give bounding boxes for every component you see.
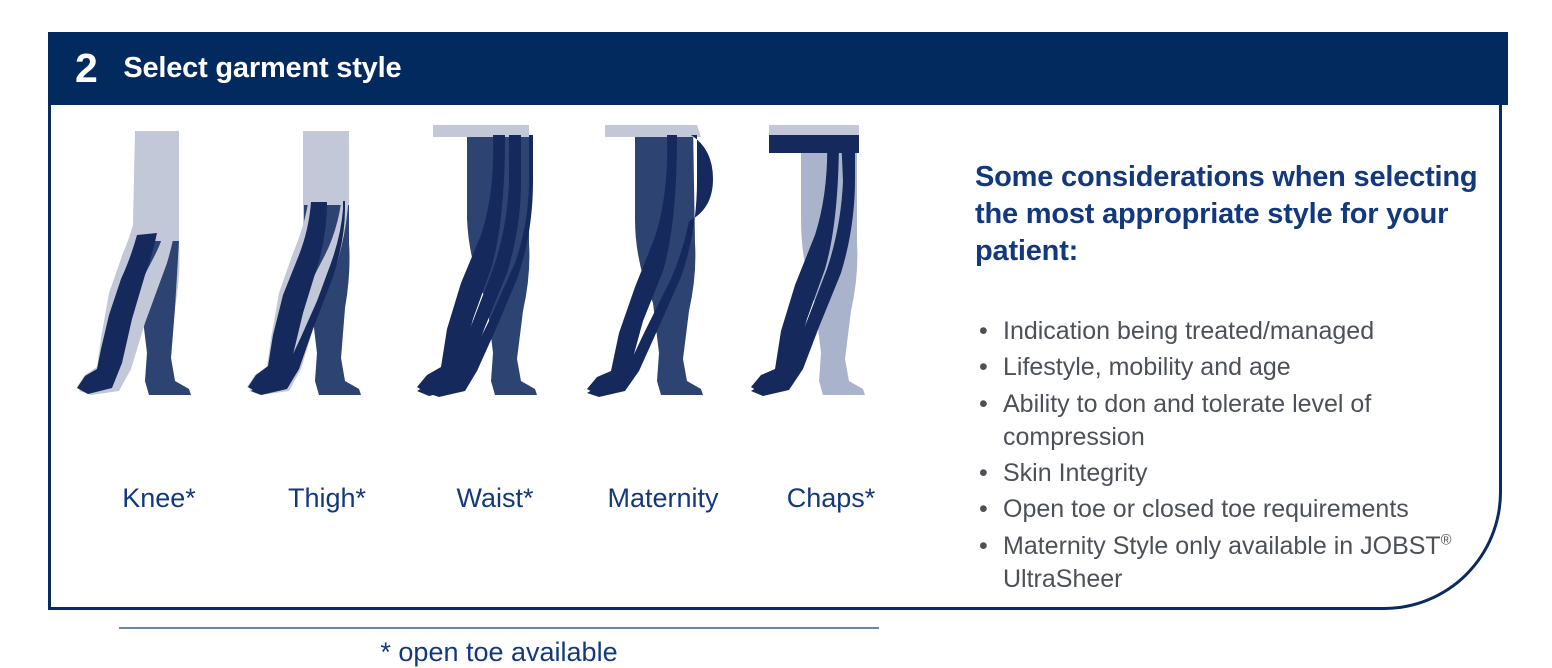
garment-label-maternity: Maternity (579, 483, 747, 514)
considerations-heading: Some considerations when selecting the m… (975, 159, 1487, 270)
step-number: 2 (75, 48, 97, 89)
list-item: •Skin Integrity (975, 457, 1505, 490)
garment-label-chaps: Chaps* (747, 483, 915, 514)
garment-figure-chaps[interactable] (747, 123, 915, 398)
list-item: •Lifestyle, mobility and age (975, 351, 1505, 384)
list-item: •Maternity Style only available in JOBST… (975, 530, 1505, 597)
list-item: •Indication being treated/managed (975, 315, 1505, 348)
garment-figure-maternity[interactable] (579, 123, 747, 398)
considerations-list: •Indication being treated/managed •Lifes… (975, 315, 1505, 599)
bullet-icon: • (979, 315, 988, 348)
garment-figure-knee[interactable] (75, 123, 243, 398)
step-header-bar: 2 Select garment style (48, 32, 1508, 105)
bullet-icon: • (979, 457, 988, 490)
list-item-text: Skin Integrity (1003, 459, 1148, 487)
garment-label-knee: Knee* (75, 483, 243, 514)
list-item-text: Ability to don and tolerate level of com… (1003, 390, 1371, 451)
garment-style-card: Knee* Thigh* Waist* Maternity Chaps* * o… (48, 32, 1502, 610)
list-item-text: Indication being treated/managed (1003, 317, 1374, 345)
footnote-open-toe: * open toe available (99, 637, 899, 668)
leg-chaps-icon (747, 123, 915, 398)
bullet-icon: • (979, 351, 988, 384)
bullet-icon: • (979, 388, 988, 421)
list-item-text: Lifestyle, mobility and age (1003, 353, 1291, 381)
garment-label-waist: Waist* (411, 483, 579, 514)
registered-trademark-mark: ® (1441, 532, 1452, 548)
page-title: Select garment style (123, 52, 401, 85)
list-item-text: Open toe or closed toe requirements (1003, 495, 1409, 523)
leg-knee-high-icon (75, 123, 243, 398)
list-item-text-after: UltraSheer (1003, 565, 1123, 593)
garment-figure-thigh[interactable] (243, 123, 411, 398)
garment-style-labels-row: Knee* Thigh* Waist* Maternity Chaps* (75, 483, 915, 514)
list-item: •Ability to don and tolerate level of co… (975, 388, 1505, 455)
footnote-divider (119, 627, 879, 629)
list-item-text: Maternity Style only available in JOBST (1003, 532, 1441, 560)
leg-waist-high-icon (411, 123, 579, 398)
garment-label-thigh: Thigh* (243, 483, 411, 514)
garment-style-figures-panel: Knee* Thigh* Waist* Maternity Chaps* * o… (51, 105, 931, 610)
bullet-icon: • (979, 493, 988, 526)
garment-figure-waist[interactable] (411, 123, 579, 398)
considerations-panel: Some considerations when selecting the m… (951, 105, 1505, 610)
leg-thigh-high-icon (243, 123, 411, 398)
list-item: •Open toe or closed toe requirements (975, 493, 1505, 526)
leg-maternity-icon (579, 123, 747, 398)
garment-figures-row (75, 123, 915, 398)
bullet-icon: • (979, 530, 988, 563)
